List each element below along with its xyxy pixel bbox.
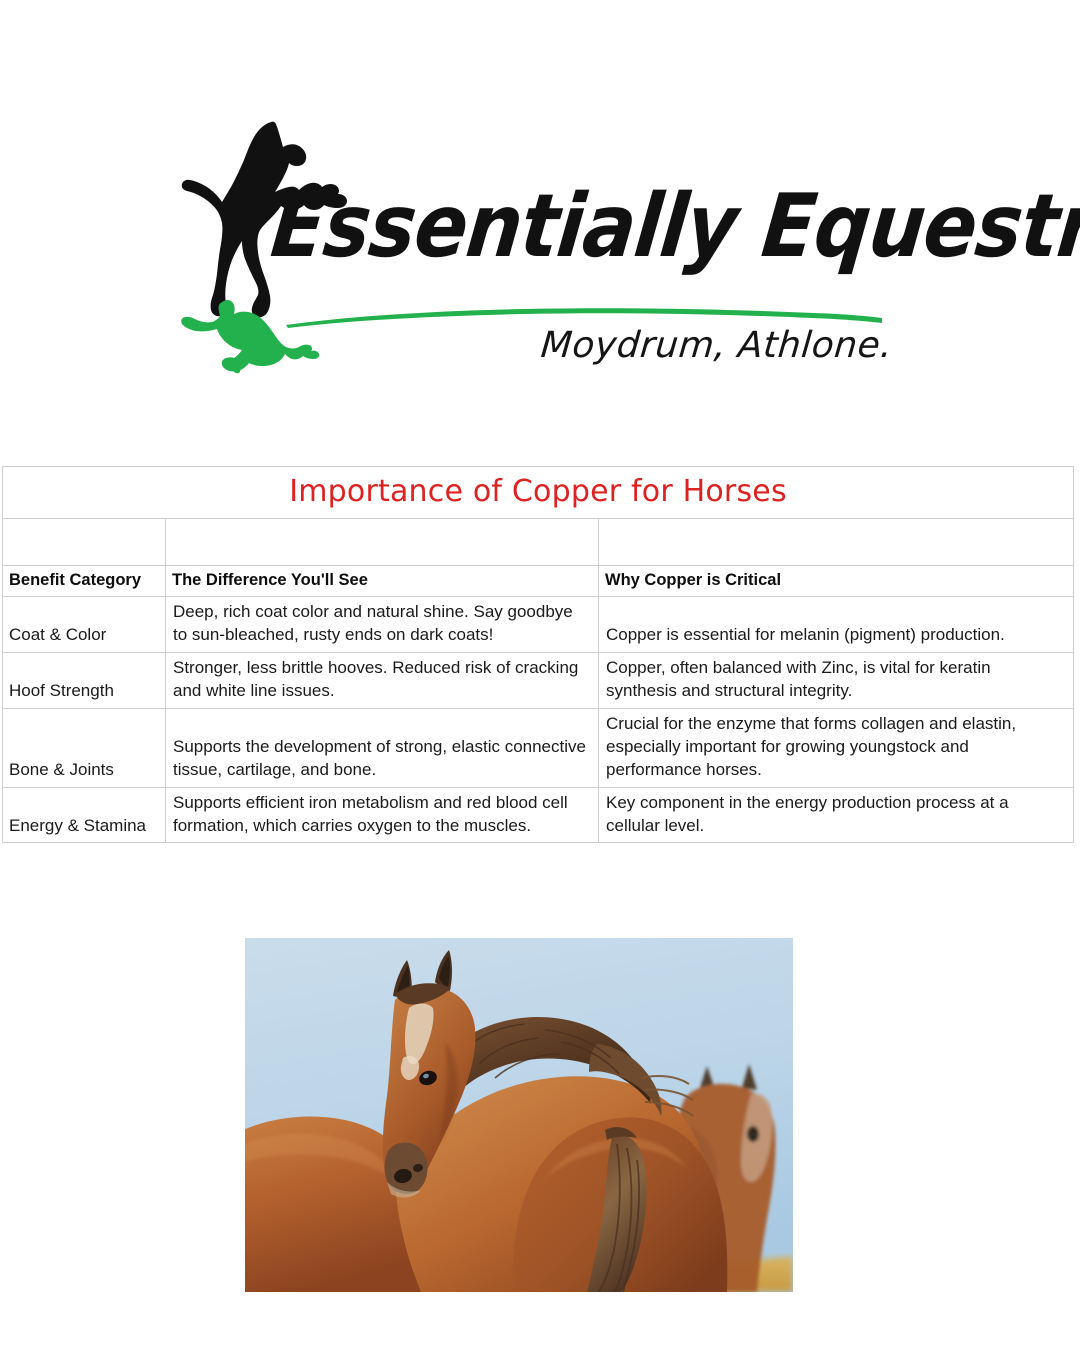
herd-of-bay-horses-photo: [245, 938, 793, 1292]
spacer-cell-a: [3, 519, 166, 566]
brand-wordmark-text: Essentially Equestrian: [267, 183, 906, 270]
cell-difference-hoof-strength: Stronger, less brittle hooves. Reduced r…: [166, 652, 599, 708]
cell-category-coat-color: Coat & Color: [3, 597, 166, 653]
cell-difference-coat-color: Deep, rich coat color and natural shine.…: [166, 597, 599, 653]
cell-difference-energy-stamina: Supports efficient iron metabolism and r…: [166, 787, 599, 843]
table-row: Energy & Stamina Supports efficient iron…: [3, 787, 1074, 843]
column-header-benefit-category: Benefit Category: [3, 566, 166, 597]
table-title-cell: Importance of Copper for Horses: [3, 467, 1074, 519]
cell-category-energy-stamina: Energy & Stamina: [3, 787, 166, 843]
cell-why-energy-stamina: Key component in the energy production p…: [599, 787, 1074, 843]
copper-benefits-table-container: Importance of Copper for Horses Benefit …: [2, 466, 1074, 843]
cell-why-bone-joints: Crucial for the enzyme that forms collag…: [599, 708, 1074, 787]
spacer-cell-c: [599, 519, 1074, 566]
table-row: Bone & Joints Supports the development o…: [3, 708, 1074, 787]
cell-why-hoof-strength: Copper, often balanced with Zinc, is vit…: [599, 652, 1074, 708]
brand-wordmark: Essentially Equestrian: [272, 188, 902, 308]
cell-why-coat-color: Copper is essential for melanin (pigment…: [599, 597, 1074, 653]
brand-tagline: Moydrum, Athlone.: [532, 325, 892, 366]
table-row: Coat & Color Deep, rich coat color and n…: [3, 597, 1074, 653]
brand-tagline-text: Moydrum, Athlone.: [539, 325, 894, 366]
table-header-row: Benefit Category The Difference You'll S…: [3, 566, 1074, 597]
table-row: Hoof Strength Stronger, less brittle hoo…: [3, 652, 1074, 708]
column-header-why-critical: Why Copper is Critical: [599, 566, 1074, 597]
column-header-difference: The Difference You'll See: [166, 566, 599, 597]
table-spacer-row: [3, 519, 1074, 566]
page-title: Importance of Copper for Horses: [289, 474, 787, 509]
copper-benefits-table: Importance of Copper for Horses Benefit …: [2, 466, 1074, 843]
cell-category-hoof-strength: Hoof Strength: [3, 652, 166, 708]
cell-category-bone-joints: Bone & Joints: [3, 708, 166, 787]
brand-logo: Essentially Equestrian Moydrum, Athlone.: [0, 110, 1080, 410]
table-title-row: Importance of Copper for Horses: [3, 467, 1074, 519]
spacer-cell-b: [166, 519, 599, 566]
cell-difference-bone-joints: Supports the development of strong, elas…: [166, 708, 599, 787]
